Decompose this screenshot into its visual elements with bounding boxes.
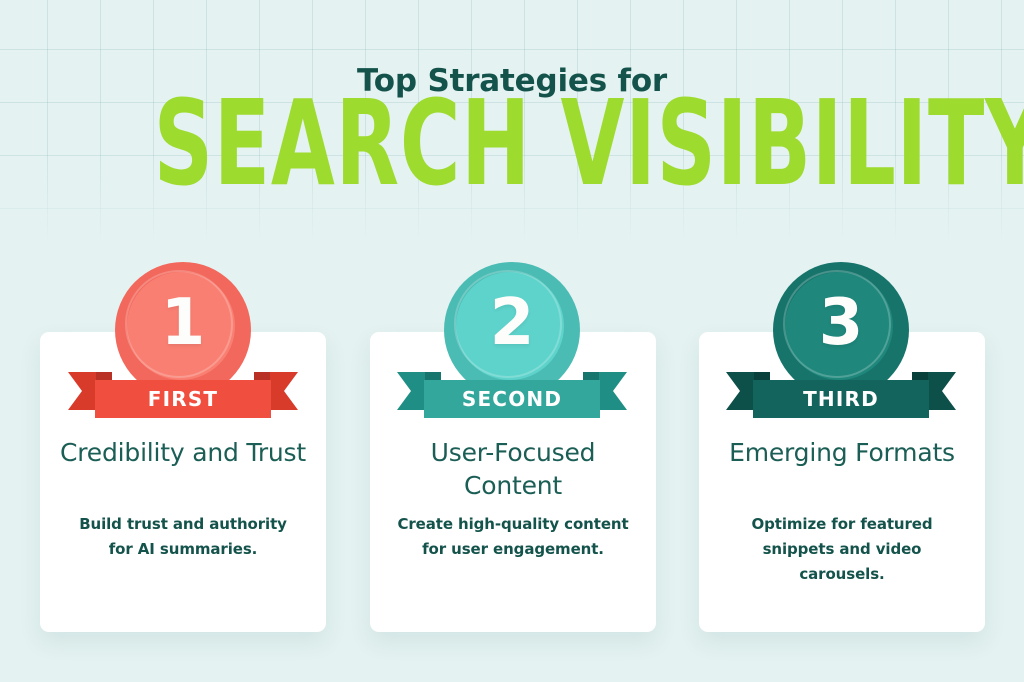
medal-rank-number: 1 [115, 262, 251, 384]
medal-badge-3: 3 THIRD [726, 262, 956, 414]
ribbon-band: SECOND [424, 380, 600, 418]
medal-badge-1: 1 FIRST [68, 262, 298, 414]
ribbon-band: FIRST [95, 380, 271, 418]
card-body: Create high-quality content for user eng… [396, 512, 630, 562]
medal-ribbon: THIRD [726, 372, 956, 418]
page-title: SEARCH VISIBILITY [154, 84, 871, 202]
card-body: Optimize for featured snippets and video… [725, 512, 959, 588]
ribbon-label: THIRD [803, 389, 879, 409]
ribbon-band: THIRD [753, 380, 929, 418]
medal-rank-number: 2 [444, 262, 580, 384]
card-body: Build trust and authority for AI summari… [66, 512, 300, 562]
infographic-canvas: Top Strategies for SEARCH VISIBILITY Cre… [0, 0, 1024, 682]
medal-ribbon: SECOND [397, 372, 627, 418]
medal-badge-2: 2 SECOND [397, 262, 627, 414]
card-heading: Credibility and Trust [52, 436, 314, 469]
ribbon-label: SECOND [462, 389, 562, 409]
card-heading: User-Focused Content [382, 436, 644, 502]
card-heading: Emerging Formats [711, 436, 973, 469]
medal-ribbon: FIRST [68, 372, 298, 418]
medal-rank-number: 3 [773, 262, 909, 384]
ribbon-label: FIRST [148, 389, 219, 409]
